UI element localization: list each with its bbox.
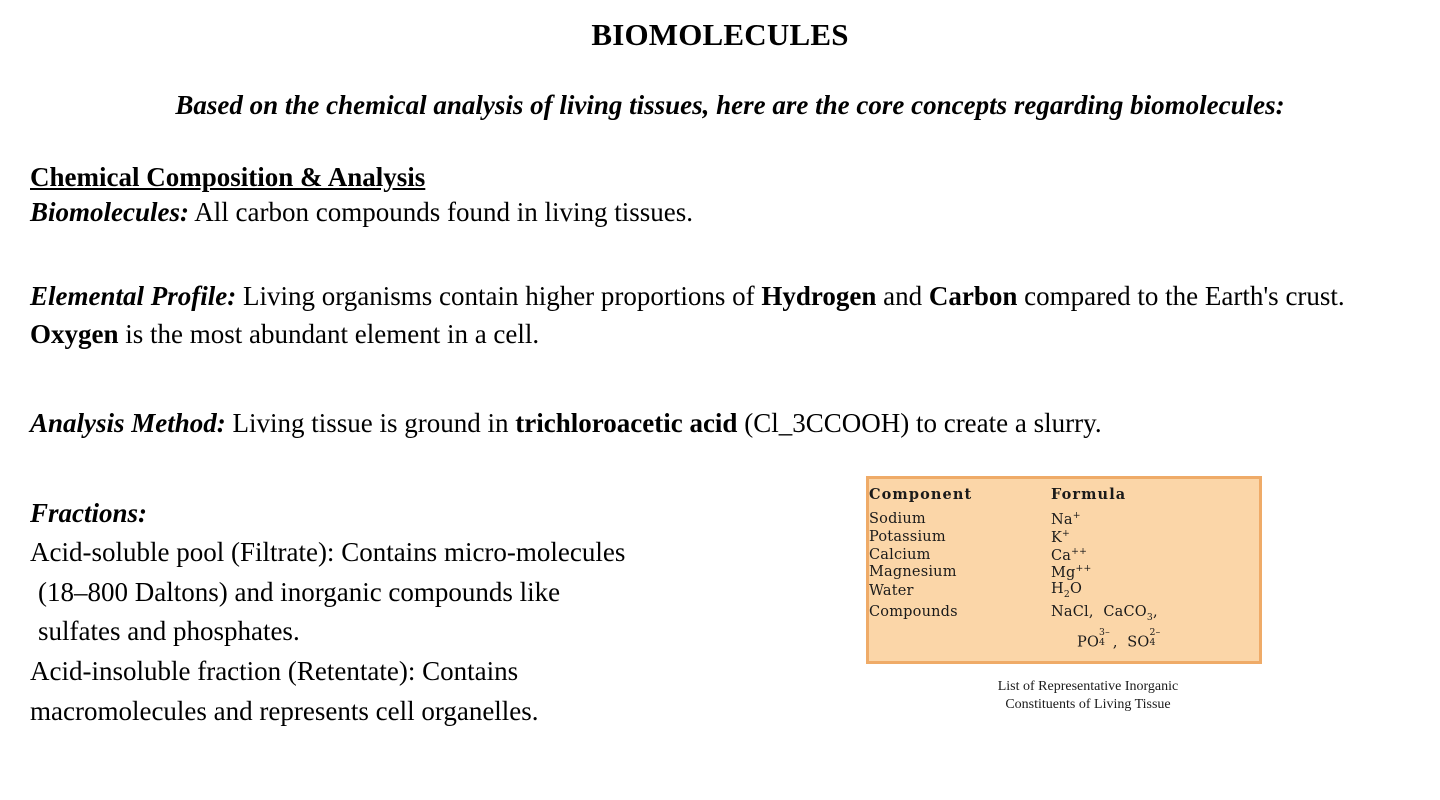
figure-caption: List of Representative Inorganic Constit… (890, 678, 1286, 714)
charge-superscript: ++ (1076, 563, 1092, 574)
spacer-2 (30, 353, 1425, 405)
cell-component: Water (868, 581, 1052, 600)
cell-formula-compounds: NaCl, CaCO3, PO3–4 , SO2–4 (1051, 600, 1261, 662)
inorganic-constituents-table: Component Formula Sodium Na+ Potassium K… (866, 476, 1262, 664)
charge-superscript: + (1062, 528, 1070, 539)
table-header-row: Component Formula (868, 478, 1261, 511)
cell-component: Calcium (868, 546, 1052, 564)
column-header-component: Component (868, 478, 1052, 511)
cell-formula: Ca++ (1051, 546, 1261, 564)
figure-caption-line-1: List of Representative Inorganic (890, 678, 1286, 696)
elemental-profile-text-2: and (876, 281, 928, 311)
cell-formula-compounds-line2: PO3–4 , SO2–4 (1051, 623, 1259, 651)
element-oxygen: Oxygen (30, 319, 119, 349)
elemental-profile-text-1: Living organisms contain higher proporti… (236, 281, 761, 311)
charge-superscript: + (1073, 510, 1081, 521)
phosphate-charge-stack: 3–4 (1099, 632, 1108, 647)
cell-formula: Mg++ (1051, 563, 1261, 581)
inorganic-constituents-figure: Component Formula Sodium Na+ Potassium K… (866, 476, 1262, 714)
table-row: Sodium Na+ (868, 510, 1261, 528)
table-row: Magnesium Mg++ (868, 563, 1261, 581)
page-subtitle: Based on the chemical analysis of living… (110, 86, 1350, 124)
cell-component: Potassium (868, 528, 1052, 546)
acid-insoluble-cont-1: macromolecules and represents cell organ… (30, 692, 840, 732)
cell-formula: K+ (1051, 528, 1261, 546)
table-row: Calcium Ca++ (868, 546, 1261, 564)
analysis-method-text-1: Living tissue is ground in (226, 408, 516, 438)
biomolecules-lead: Biomolecules: (30, 197, 189, 227)
acid-soluble-lead: Acid-soluble pool (Filtrate): (30, 537, 334, 567)
analysis-method-text-2: (Cl_3CCOOH) to create a slurry. (737, 408, 1101, 438)
column-header-formula: Formula (1051, 478, 1261, 511)
charge-superscript: ++ (1071, 546, 1087, 557)
cell-formula: Na+ (1051, 510, 1261, 528)
paragraph-biomolecules: Biomolecules: All carbon compounds found… (30, 194, 1425, 232)
figure-caption-line-2: Constituents of Living Tissue (890, 696, 1286, 714)
cell-component: Magnesium (868, 563, 1052, 581)
element-hydrogen: Hydrogen (761, 281, 876, 311)
table-row: Water H2O (868, 581, 1261, 600)
acid-soluble-cont-2: sulfates and phosphates. (30, 612, 840, 652)
biomolecules-text: All carbon compounds found in living tis… (189, 197, 693, 227)
element-carbon: Carbon (929, 281, 1018, 311)
section-heading-chemical-composition: Chemical Composition & Analysis (30, 160, 1425, 194)
page-title: BIOMOLECULES (0, 16, 1440, 53)
acid-insoluble-lead: Acid-insoluble fraction (Retentate): (30, 656, 415, 686)
elemental-profile-lead: Elemental Profile: (30, 281, 236, 311)
table-row: Potassium K+ (868, 528, 1261, 546)
acid-soluble-cont-1: (18–800 Daltons) and inorganic compounds… (30, 573, 840, 613)
sulfate-charge-stack: 2–4 (1150, 632, 1159, 647)
cell-component: Sodium (868, 510, 1052, 528)
table-body: Component Formula Sodium Na+ Potassium K… (868, 478, 1261, 663)
cell-component: Compounds (868, 600, 1052, 662)
acid-insoluble-text: Contains (415, 656, 518, 686)
reagent-trichloroacetic-acid: trichloroacetic acid (515, 408, 737, 438)
cell-formula: H2O (1051, 581, 1261, 600)
paragraph-analysis-method: Analysis Method: Living tissue is ground… (30, 405, 1425, 443)
paragraph-acid-insoluble-fraction: Acid-insoluble fraction (Retentate): Con… (30, 652, 840, 731)
paragraph-acid-soluble-pool: Acid-soluble pool (Filtrate): Contains m… (30, 533, 840, 652)
spacer-1 (30, 232, 1425, 278)
elemental-profile-text-4: is the most abundant element in a cell. (119, 319, 540, 349)
paragraph-elemental-profile: Elemental Profile: Living organisms cont… (30, 278, 1425, 354)
elemental-profile-text-3: compared to the Earth's crust. (1017, 281, 1344, 311)
analysis-method-lead: Analysis Method: (30, 408, 226, 438)
acid-soluble-text: Contains micro-molecules (334, 537, 625, 567)
table-row: Compounds NaCl, CaCO3, PO3–4 , SO2–4 (868, 600, 1261, 662)
